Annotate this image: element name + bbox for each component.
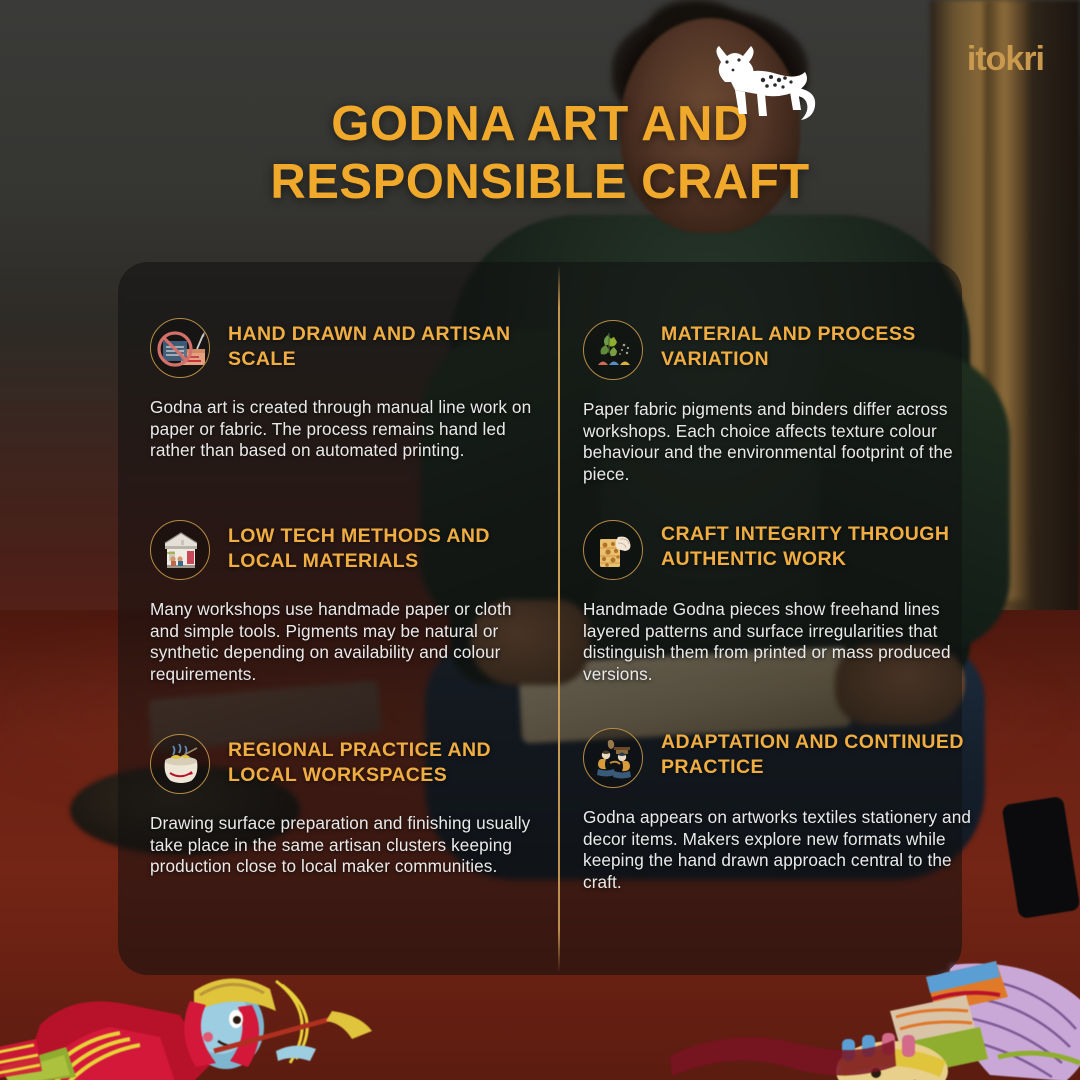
two-artisans-working-icon	[583, 728, 643, 788]
feature-card-2-head: MATERIAL AND PROCESS VARIATION	[583, 320, 973, 380]
feature-card-3-head: LOW TECH METHODS AND LOCAL MATERIALS	[150, 520, 540, 580]
feature-card-1-body: Godna art is created through manual line…	[150, 397, 540, 462]
feature-card-1-title: HAND DRAWN AND ARTISAN SCALE	[228, 318, 540, 372]
feature-card-5-body: Drawing surface preparation and finishin…	[150, 813, 540, 878]
feature-card-6-body: Godna appears on artworks textiles stati…	[583, 807, 973, 893]
feature-card-3-body: Many workshops use handmade paper or clo…	[150, 599, 540, 685]
feature-card-5-title: REGIONAL PRACTICE AND LOCAL WORKSPACES	[228, 734, 540, 788]
feature-card-4-head: CRAFT INTEGRITY THROUGH AUTHENTIC WORK	[583, 520, 973, 580]
leaves-and-pigments-icon	[583, 320, 643, 380]
steaming-dye-pot-icon	[150, 734, 210, 794]
folk-art-cat-icon	[705, 42, 823, 124]
brand-logo[interactable]: itokri	[967, 40, 1044, 79]
brand-logo-text: itokri	[967, 40, 1044, 79]
feature-card-2: MATERIAL AND PROCESS VARIATION Paper fab…	[583, 320, 973, 485]
feature-card-6: ADAPTATION AND CONTINUED PRACTICE Godna …	[583, 728, 973, 893]
feature-card-2-body: Paper fabric pigments and binders differ…	[583, 399, 973, 485]
column-divider	[558, 265, 560, 972]
feature-card-4-title: CRAFT INTEGRITY THROUGH AUTHENTIC WORK	[661, 520, 973, 572]
feature-card-1: HAND DRAWN AND ARTISAN SCALE Godna art i…	[150, 318, 540, 462]
artisan-workshop-building-icon	[150, 520, 210, 580]
feature-card-3-title: LOW TECH METHODS AND LOCAL MATERIALS	[228, 520, 540, 574]
feature-card-4-body: Handmade Godna pieces show freehand line…	[583, 599, 973, 685]
feature-card-3: LOW TECH METHODS AND LOCAL MATERIALS Man…	[150, 520, 540, 685]
folk-art-painting-center	[660, 1010, 900, 1080]
feature-card-6-head: ADAPTATION AND CONTINUED PRACTICE	[583, 728, 973, 788]
hand-holding-patterned-fabric-icon	[583, 520, 643, 580]
no-printing-press-icon	[150, 318, 210, 378]
feature-card-2-title: MATERIAL AND PROCESS VARIATION	[661, 320, 973, 372]
feature-card-1-head: HAND DRAWN AND ARTISAN SCALE	[150, 318, 540, 378]
feature-card-5-head: REGIONAL PRACTICE AND LOCAL WORKSPACES	[150, 734, 540, 794]
feature-card-4: CRAFT INTEGRITY THROUGH AUTHENTIC WORK H…	[583, 520, 973, 685]
feature-card-6-title: ADAPTATION AND CONTINUED PRACTICE	[661, 728, 973, 780]
feature-card-5: REGIONAL PRACTICE AND LOCAL WORKSPACES D…	[150, 734, 540, 878]
